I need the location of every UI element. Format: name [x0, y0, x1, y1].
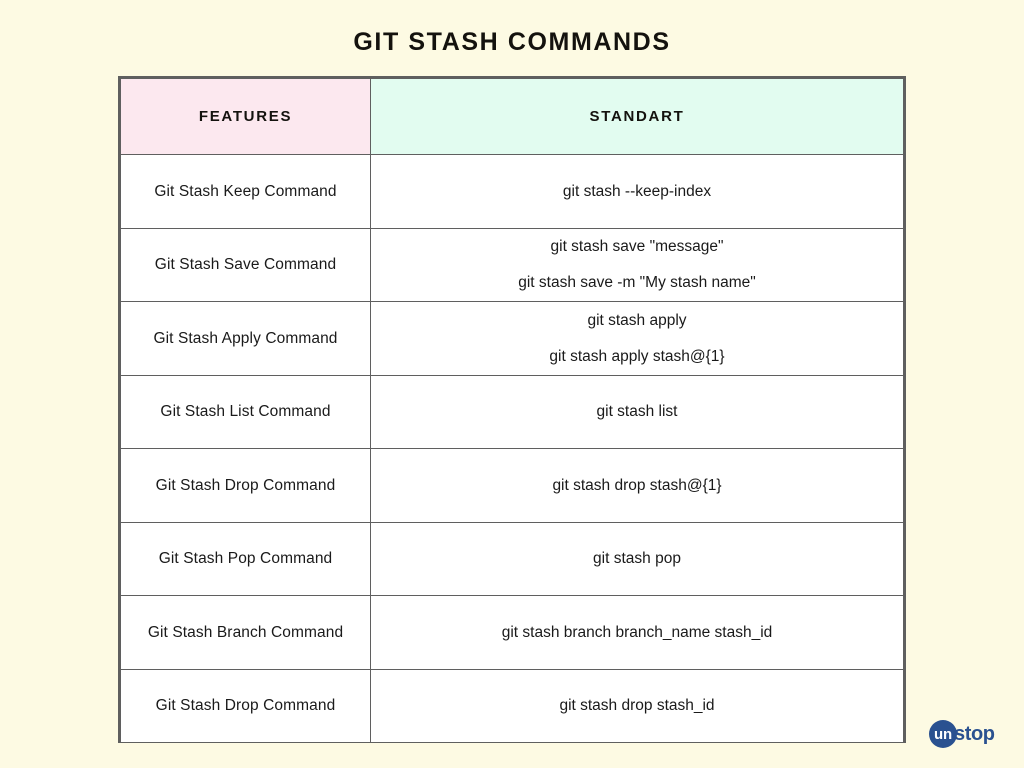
command-line: git stash branch branch_name stash_id — [502, 622, 773, 643]
command-lines: git stash pop — [379, 548, 895, 569]
feature-cell: Git Stash Drop Command — [121, 669, 371, 743]
command-line: git stash list — [597, 401, 678, 422]
table-row: Git Stash Drop Commandgit stash drop sta… — [121, 669, 904, 743]
feature-cell: Git Stash Keep Command — [121, 155, 371, 229]
table-row: Git Stash Save Commandgit stash save "me… — [121, 228, 904, 302]
command-line: git stash save "message" — [551, 236, 724, 257]
feature-cell: Git Stash Drop Command — [121, 449, 371, 523]
feature-cell: Git Stash List Command — [121, 375, 371, 449]
table-header: FEATURES STANDART — [121, 79, 904, 155]
feature-cell: Git Stash Save Command — [121, 228, 371, 302]
command-cell: git stash drop stash_id — [371, 669, 904, 743]
unstop-logo-mark-icon: un — [929, 720, 957, 748]
command-lines: git stash applygit stash apply stash@{1} — [379, 310, 895, 367]
command-lines: git stash branch branch_name stash_id — [379, 622, 895, 643]
unstop-logo[interactable]: un stop — [929, 719, 995, 749]
command-lines: git stash list — [379, 401, 895, 422]
table-row: Git Stash Drop Commandgit stash drop sta… — [121, 449, 904, 523]
command-line: git stash drop stash_id — [559, 695, 714, 716]
page-title: GIT STASH COMMANDS — [0, 26, 1024, 58]
command-cell: git stash branch branch_name stash_id — [371, 596, 904, 670]
command-cell: git stash drop stash@{1} — [371, 449, 904, 523]
command-lines: git stash save "message"git stash save -… — [379, 236, 895, 293]
table-row: Git Stash List Commandgit stash list — [121, 375, 904, 449]
command-cell: git stash --keep-index — [371, 155, 904, 229]
command-line: git stash drop stash@{1} — [552, 475, 721, 496]
column-header-features: FEATURES — [121, 79, 371, 155]
command-cell: git stash save "message"git stash save -… — [371, 228, 904, 302]
column-header-standart: STANDART — [371, 79, 904, 155]
commands-table-container: FEATURES STANDART Git Stash Keep Command… — [118, 76, 906, 743]
table-row: Git Stash Keep Commandgit stash --keep-i… — [121, 155, 904, 229]
table-header-row: FEATURES STANDART — [121, 79, 904, 155]
command-line: git stash save -m "My stash name" — [518, 272, 756, 293]
command-lines: git stash --keep-index — [379, 181, 895, 202]
git-stash-commands-table: FEATURES STANDART Git Stash Keep Command… — [120, 78, 904, 743]
command-cell: git stash pop — [371, 522, 904, 596]
table-row: Git Stash Branch Commandgit stash branch… — [121, 596, 904, 670]
command-line: git stash apply stash@{1} — [549, 346, 724, 367]
command-cell: git stash list — [371, 375, 904, 449]
command-lines: git stash drop stash@{1} — [379, 475, 895, 496]
unstop-logo-text: stop — [954, 724, 995, 744]
command-line: git stash apply — [587, 310, 686, 331]
poster-page: GIT STASH COMMANDS FEATURES STANDART Git… — [0, 0, 1024, 768]
command-line: git stash pop — [593, 548, 681, 569]
feature-cell: Git Stash Pop Command — [121, 522, 371, 596]
command-line: git stash --keep-index — [563, 181, 711, 202]
command-lines: git stash drop stash_id — [379, 695, 895, 716]
table-row: Git Stash Pop Commandgit stash pop — [121, 522, 904, 596]
feature-cell: Git Stash Branch Command — [121, 596, 371, 670]
table-body: Git Stash Keep Commandgit stash --keep-i… — [121, 155, 904, 743]
command-cell: git stash applygit stash apply stash@{1} — [371, 302, 904, 376]
feature-cell: Git Stash Apply Command — [121, 302, 371, 376]
table-row: Git Stash Apply Commandgit stash applygi… — [121, 302, 904, 376]
